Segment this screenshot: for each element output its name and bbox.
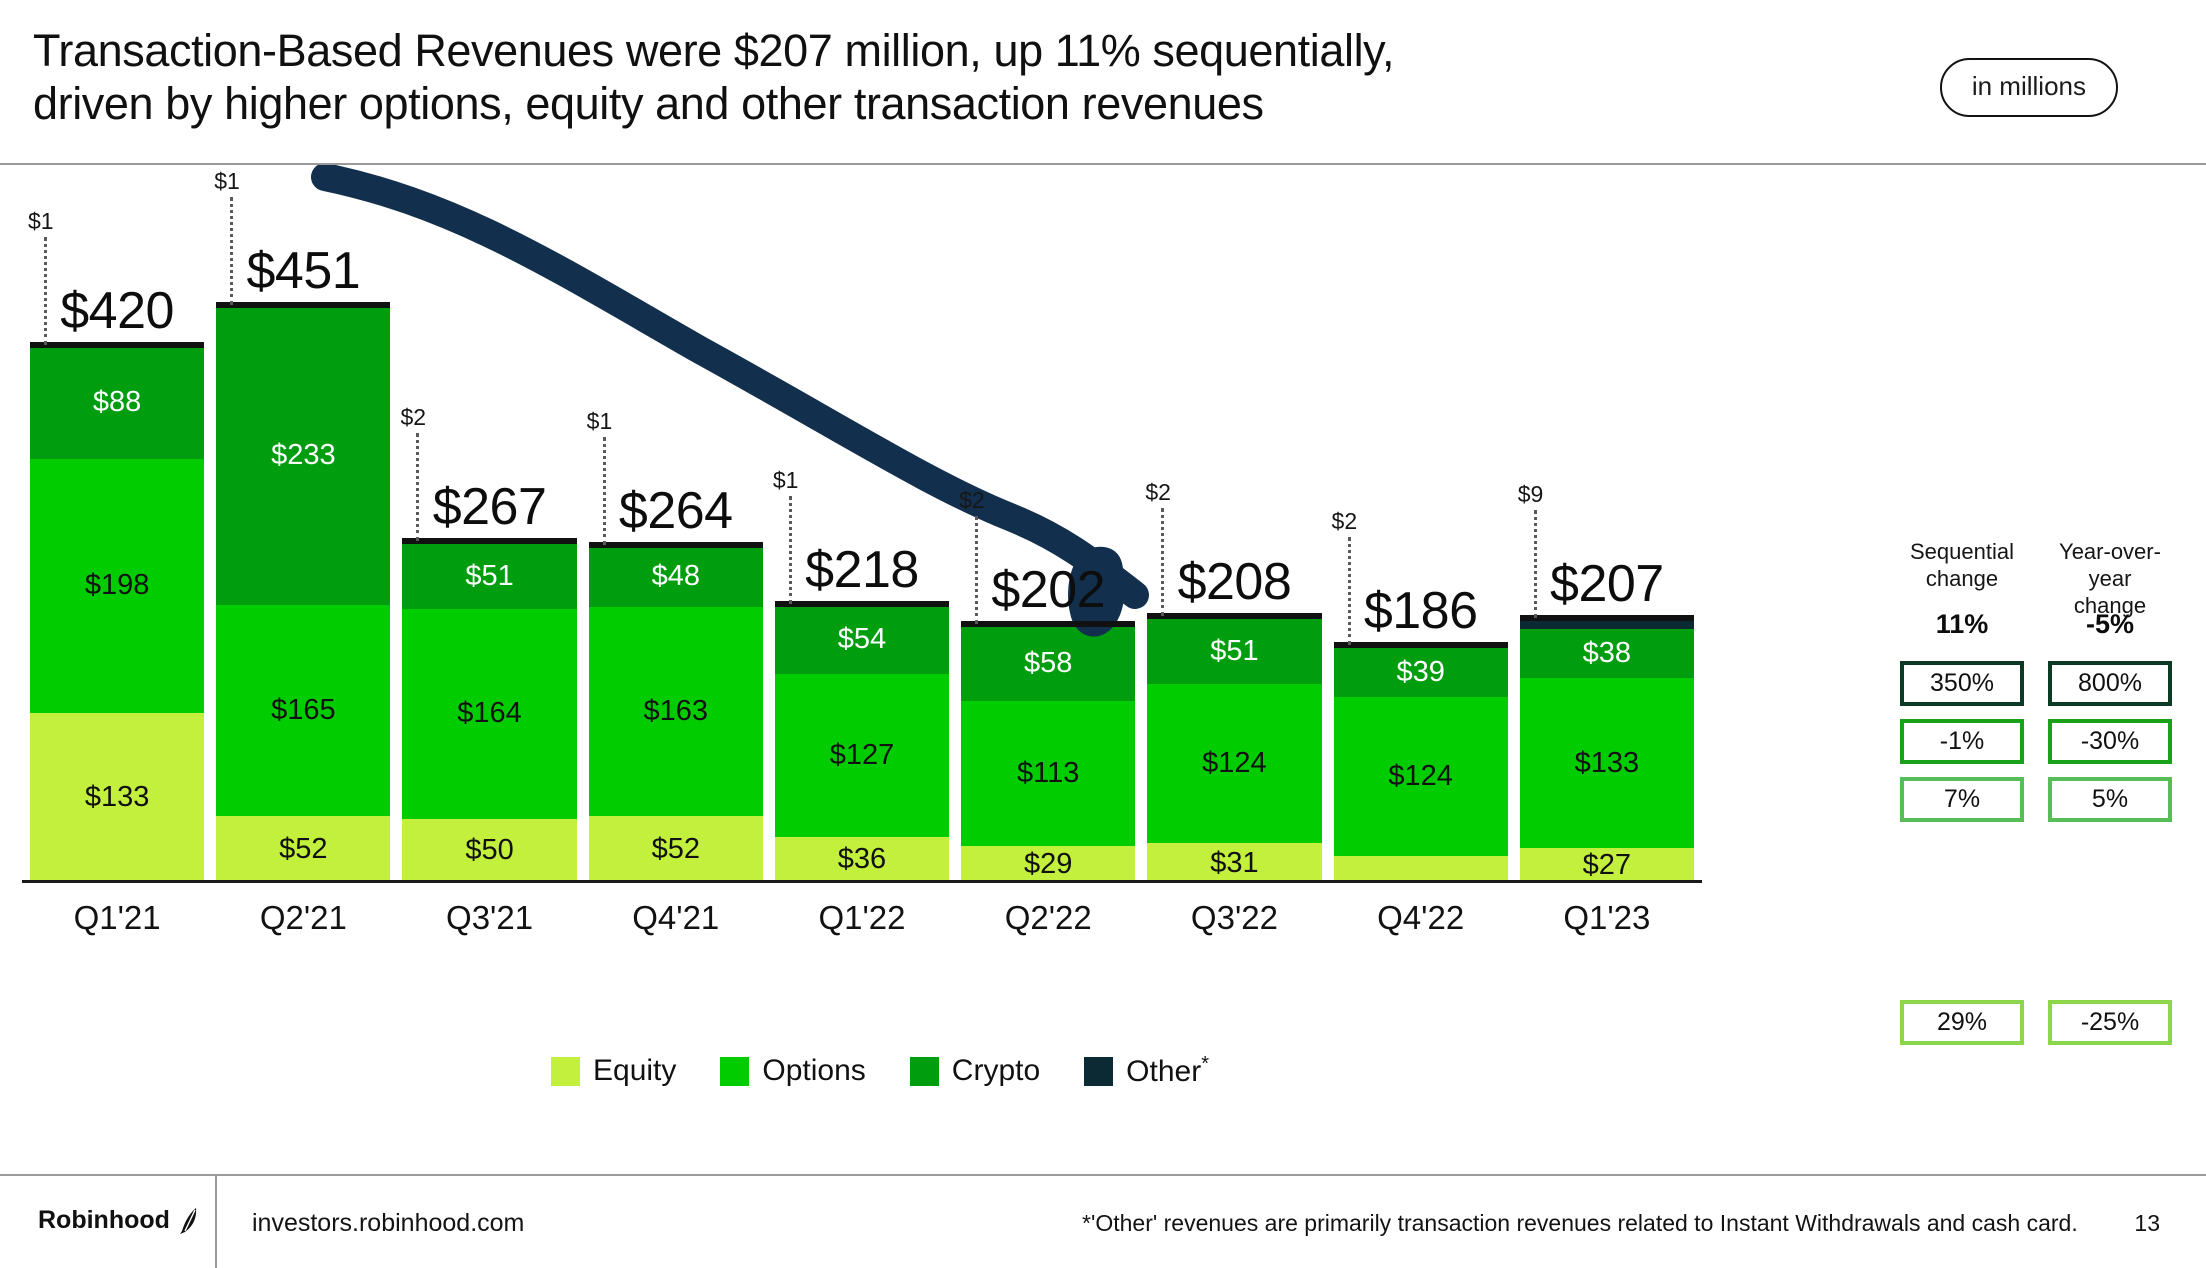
x-tick-Q322: Q3'22 — [1141, 899, 1327, 937]
other-callout-leader-line — [44, 237, 47, 345]
other-callout-leader-line — [603, 437, 606, 545]
bar-column-Q122[interactable]: $54$127$36 — [775, 604, 949, 883]
other-segment-callout: $2 — [1145, 481, 1171, 504]
other-callout-leader-line — [789, 496, 792, 604]
stacked-bar-chart: $88$198$133$233$165$52$51$164$50$48$163$… — [0, 165, 2206, 1045]
title-line-2: driven by higher options, equity and oth… — [33, 77, 1863, 130]
units-badge: in millions — [1940, 58, 2118, 117]
bar-column-Q221[interactable]: $233$165$52 — [216, 305, 390, 883]
legend-label: Options — [762, 1054, 865, 1088]
bar-segment-crypto[interactable]: $51 — [1147, 619, 1321, 684]
segment-value-label: $39 — [1396, 658, 1444, 687]
bar-segment-crypto[interactable]: $51 — [402, 543, 576, 608]
seq-head-line1: Sequential — [1910, 539, 2014, 564]
segment-value-label: $133 — [1575, 749, 1640, 778]
x-tick-Q422: Q4'22 — [1328, 899, 1514, 937]
segment-value-label: $50 — [465, 836, 513, 865]
segment-value-label: $58 — [1024, 649, 1072, 678]
seq-change-options: 7% — [1900, 777, 2024, 822]
other-callout-leader-line — [1348, 537, 1351, 645]
bar-segment-equity[interactable] — [1334, 856, 1508, 883]
bar-total-label: $186 — [1364, 585, 1478, 637]
bar-segment-options[interactable]: $163 — [589, 607, 763, 816]
segment-value-label: $52 — [279, 835, 327, 864]
bar-segment-crypto[interactable]: $48 — [589, 546, 763, 608]
feather-icon — [178, 1207, 200, 1235]
bar-top-cap — [216, 302, 390, 308]
bar-total-label: $267 — [433, 481, 547, 533]
bar-top-cap — [402, 538, 576, 544]
other-callout-leader-line — [230, 197, 233, 305]
segment-value-label: $38 — [1583, 639, 1631, 668]
segment-value-label: $198 — [85, 571, 150, 600]
legend-swatch-icon — [720, 1057, 749, 1086]
other-segment-callout: $9 — [1518, 483, 1544, 506]
segment-value-label: $124 — [1202, 749, 1267, 778]
segment-value-label: $48 — [652, 562, 700, 591]
x-axis-line — [22, 880, 1702, 883]
other-callout-leader-line — [1534, 510, 1537, 618]
other-segment-callout: $2 — [400, 406, 426, 429]
segment-value-label: $51 — [1210, 637, 1258, 666]
bar-column-Q121[interactable]: $88$198$133 — [30, 345, 204, 883]
segment-value-label: $54 — [838, 625, 886, 654]
bar-segment-equity[interactable]: $52 — [589, 816, 763, 883]
other-callout-leader-line — [1161, 508, 1164, 616]
yoy-change-other: 800% — [2048, 661, 2172, 706]
slide-header: Transaction-Based Revenues were $207 mil… — [0, 0, 2206, 165]
sequential-change-total: 11% — [1900, 609, 2024, 640]
page-title: Transaction-Based Revenues were $207 mil… — [33, 24, 1863, 130]
bar-segment-crypto[interactable]: $88 — [30, 346, 204, 459]
yoy-head-line1: Year-over-year — [2059, 539, 2161, 591]
bar-segment-equity[interactable]: $52 — [216, 816, 390, 883]
legend-swatch-icon — [1084, 1057, 1113, 1086]
slide-footer: Robinhood investors.robinhood.com *'Othe… — [0, 1174, 2206, 1266]
brand-name: Robinhood — [38, 1206, 170, 1235]
other-segment-callout: $2 — [1332, 510, 1358, 533]
bar-top-cap — [775, 601, 949, 607]
bar-column-Q322[interactable]: $51$124$31 — [1147, 616, 1321, 883]
bar-segment-options[interactable]: $133 — [1520, 678, 1694, 848]
bar-top-cap — [1334, 642, 1508, 648]
sequential-change-header: Sequential change — [1900, 539, 2024, 593]
bar-segment-options[interactable]: $164 — [402, 609, 576, 819]
legend-swatch-icon — [551, 1057, 580, 1086]
bar-segment-crypto[interactable]: $38 — [1520, 629, 1694, 678]
bar-top-cap — [30, 342, 204, 348]
bar-total-label: $208 — [1178, 556, 1292, 608]
legend-label: Equity — [593, 1054, 676, 1088]
legend-footnote-marker: * — [1201, 1053, 1209, 1075]
seq-change-other: 350% — [1900, 661, 2024, 706]
chart-legend: EquityOptionsCryptoOther* — [0, 1053, 1760, 1089]
yoy-change-total: -5% — [2048, 609, 2172, 640]
yoy-change-header: Year-over-year change — [2048, 539, 2172, 619]
bar-segment-options[interactable]: $113 — [961, 701, 1135, 846]
bar-segment-equity[interactable]: $36 — [775, 837, 949, 883]
legend-item-equity[interactable]: Equity — [551, 1054, 676, 1088]
segment-value-label: $127 — [830, 741, 895, 770]
bar-total-label: $207 — [1550, 558, 1664, 610]
legend-item-options[interactable]: Options — [720, 1054, 865, 1088]
segment-value-label: $29 — [1024, 850, 1072, 879]
bar-column-Q422[interactable]: $39$124 — [1334, 645, 1508, 883]
bar-segment-equity[interactable]: $27 — [1520, 848, 1694, 883]
robinhood-logo: Robinhood — [38, 1206, 200, 1235]
legend-swatch-icon — [910, 1057, 939, 1086]
seq-change-crypto: -1% — [1900, 719, 2024, 764]
bar-top-cap — [589, 542, 763, 548]
footer-divider — [215, 1176, 217, 1268]
bar-top-cap — [1147, 613, 1321, 619]
yoy-change-options: 5% — [2048, 777, 2172, 822]
footnote-text: *'Other' revenues are primarily transact… — [1082, 1210, 2078, 1237]
bar-total-label: $264 — [619, 485, 733, 537]
x-tick-Q221: Q2'21 — [210, 899, 396, 937]
bar-segment-equity[interactable]: $29 — [961, 846, 1135, 883]
bar-segment-options[interactable]: $127 — [775, 674, 949, 837]
other-callout-leader-line — [975, 516, 978, 624]
other-segment-callout: $1 — [587, 410, 613, 433]
bar-total-label: $451 — [246, 245, 360, 297]
segment-value-label: $113 — [1017, 759, 1079, 788]
other-segment-callout: $1 — [214, 170, 240, 193]
bar-segment-crypto[interactable]: $39 — [1334, 647, 1508, 697]
bar-segment-options[interactable]: $124 — [1147, 684, 1321, 843]
bar-segment-options[interactable]: $198 — [30, 459, 204, 713]
yoy-change-crypto: -30% — [2048, 719, 2172, 764]
bar-top-cap — [1520, 615, 1694, 621]
bar-segment-crypto[interactable]: $233 — [216, 306, 390, 605]
segment-value-label: $36 — [838, 845, 886, 874]
bar-total-label: $218 — [805, 544, 919, 596]
segment-value-label: $88 — [93, 388, 141, 417]
x-tick-Q321: Q3'21 — [396, 899, 582, 937]
bar-segment-crypto[interactable]: $58 — [961, 627, 1135, 701]
segment-value-label: $133 — [85, 783, 150, 812]
segment-value-label: $164 — [457, 699, 522, 728]
segment-value-label: $233 — [271, 441, 336, 470]
other-segment-callout: $1 — [28, 210, 54, 233]
x-tick-Q121: Q1'21 — [24, 899, 210, 937]
bar-segment-equity[interactable]: $133 — [30, 713, 204, 883]
segment-value-label: $52 — [652, 835, 700, 864]
segment-value-label: $165 — [271, 696, 336, 725]
seq-head-line2: change — [1926, 566, 1998, 591]
bar-column-Q421[interactable]: $48$163$52 — [589, 545, 763, 883]
other-callout-leader-line — [416, 433, 419, 541]
x-tick-Q122: Q1'22 — [769, 899, 955, 937]
seq-change-equity: 29% — [1900, 1000, 2024, 1045]
x-tick-Q123: Q1'23 — [1514, 899, 1700, 937]
change-summary-table: Sequential change 11% 350% -1% 7% 29% Ye… — [1900, 165, 2200, 1045]
bar-segment-equity[interactable]: $31 — [1147, 843, 1321, 883]
segment-value-label: $31 — [1210, 849, 1258, 878]
segment-value-label: $51 — [465, 562, 513, 591]
bar-segment-crypto[interactable]: $54 — [775, 605, 949, 674]
page-number: 13 — [2134, 1210, 2160, 1237]
segment-value-label: $27 — [1583, 851, 1631, 880]
bar-segment-options[interactable]: $165 — [216, 605, 390, 816]
bar-total-label: $420 — [60, 285, 174, 337]
segment-value-label: $163 — [644, 697, 709, 726]
bar-column-Q123[interactable]: $38$133$27 — [1520, 618, 1694, 883]
bar-column-Q321[interactable]: $51$164$50 — [402, 541, 576, 883]
legend-label: Other* — [1126, 1053, 1209, 1089]
x-tick-Q222: Q2'22 — [955, 899, 1141, 937]
legend-item-crypto[interactable]: Crypto — [910, 1054, 1040, 1088]
other-segment-callout: $1 — [773, 469, 799, 492]
other-segment-callout: $2 — [959, 489, 985, 512]
title-line-1: Transaction-Based Revenues were $207 mil… — [33, 24, 1863, 77]
bar-segment-equity[interactable]: $50 — [402, 819, 576, 883]
legend-label: Crypto — [952, 1054, 1040, 1088]
bar-top-cap — [961, 621, 1135, 627]
bar-segment-options[interactable]: $124 — [1334, 697, 1508, 856]
bar-column-Q222[interactable]: $58$113$29 — [961, 624, 1135, 883]
bar-total-label: $202 — [991, 564, 1105, 616]
yoy-change-equity: -25% — [2048, 1000, 2172, 1045]
segment-value-label: $124 — [1388, 762, 1453, 791]
investor-relations-url[interactable]: investors.robinhood.com — [252, 1209, 524, 1238]
legend-item-other[interactable]: Other* — [1084, 1053, 1209, 1089]
x-tick-Q421: Q4'21 — [583, 899, 769, 937]
